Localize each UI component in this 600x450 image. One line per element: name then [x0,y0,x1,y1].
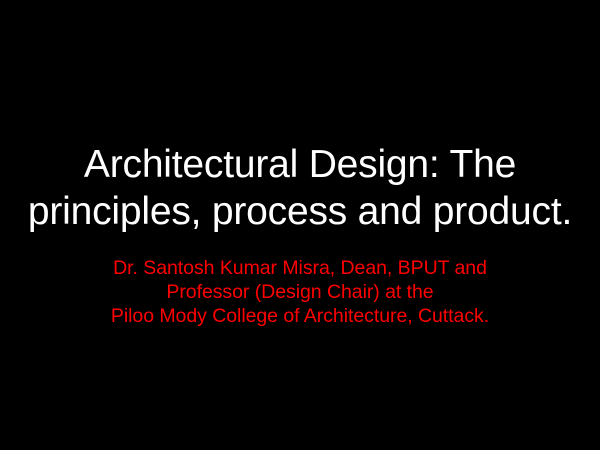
title-line-2: principles, process and product. [20,188,580,235]
slide-content: Architectural Design: The principles, pr… [0,0,600,450]
subtitle-line-1: Dr. Santosh Kumar Misra, Dean, BPUT and [20,256,580,280]
subtitle-line-3: Piloo Mody College of Architecture, Cutt… [20,304,580,328]
title-line-1: Architectural Design: The [20,141,580,188]
presentation-slide: Architectural Design: The principles, pr… [0,0,600,450]
slide-subtitle: Dr. Santosh Kumar Misra, Dean, BPUT and … [20,256,580,328]
slide-title: Architectural Design: The principles, pr… [20,141,580,235]
subtitle-line-2: Professor (Design Chair) at the [20,280,580,304]
